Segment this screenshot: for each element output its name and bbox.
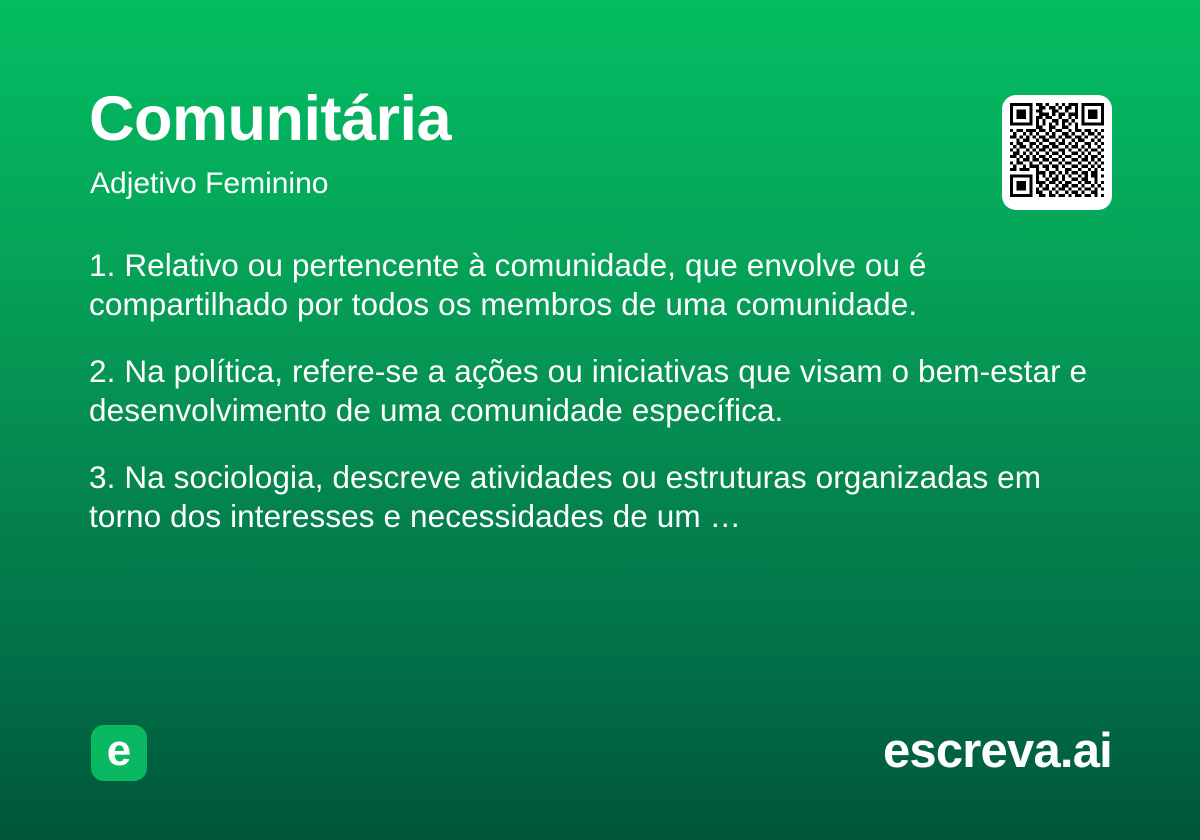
definition-item: 1. Relativo ou pertencente à comunidade,… <box>89 246 1099 323</box>
definition-item: 3. Na sociologia, descreve atividades ou… <box>89 458 1099 535</box>
qr-code-icon <box>1010 103 1104 197</box>
qr-code-card[interactable] <box>1002 95 1112 210</box>
logo-letter-e: e <box>107 729 131 773</box>
brand-wordmark: escreva.ai <box>883 722 1112 781</box>
definition-card: Comunitária Adjetivo Feminino 1. Relativ… <box>0 0 1200 840</box>
definition-list: 1. Relativo ou pertencente à comunidade,… <box>89 246 1099 535</box>
word-class-label: Adjetivo Feminino <box>90 166 328 202</box>
page-title: Comunitária <box>89 88 451 151</box>
brand-logo-mark[interactable]: e <box>91 725 147 781</box>
definition-item: 2. Na política, refere-se a ações ou ini… <box>89 352 1099 429</box>
